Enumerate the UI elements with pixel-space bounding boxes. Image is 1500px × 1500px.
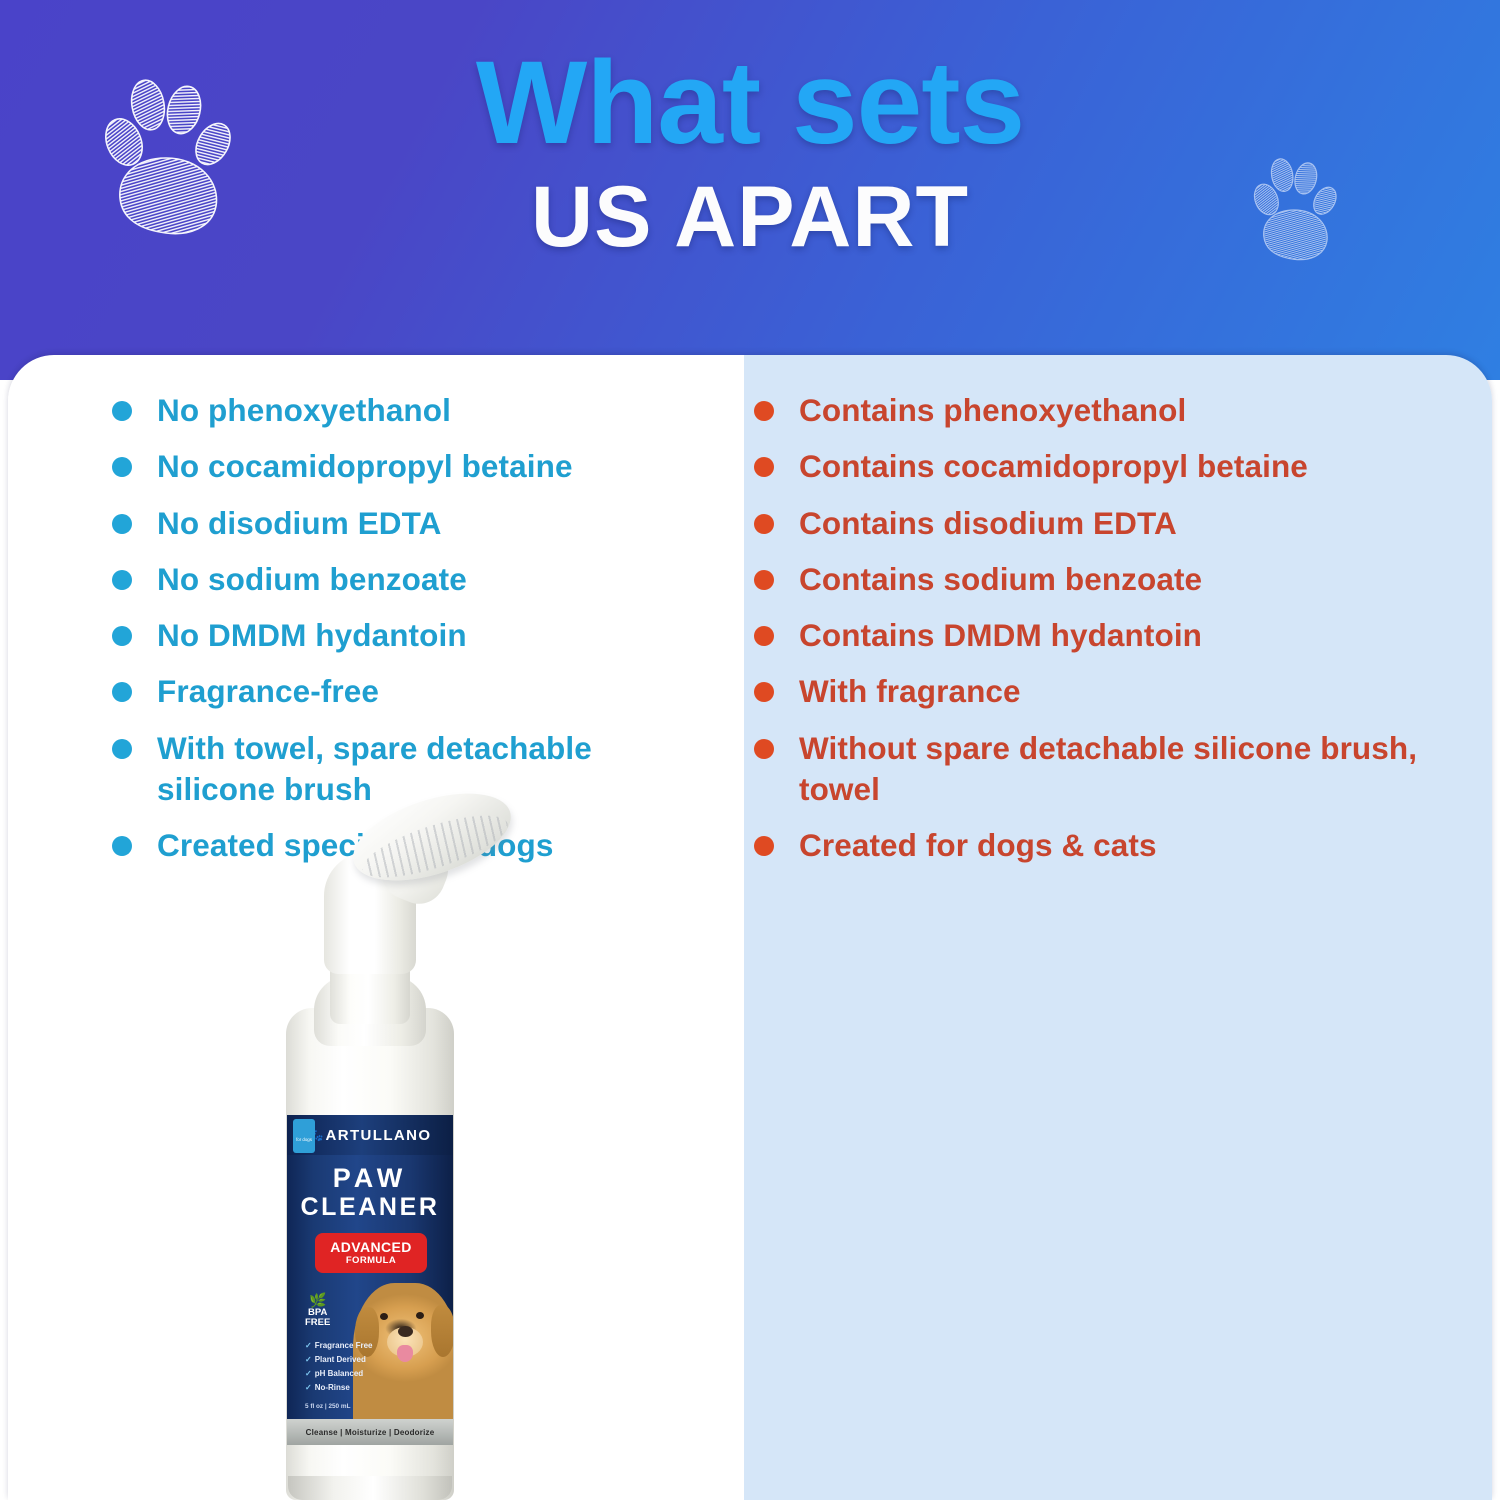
title-line-1: What sets <box>0 44 1500 162</box>
advanced-formula-badge: ADVANCED FORMULA <box>315 1233 427 1273</box>
our-product-bottle: 🐾 ARTULLANO for dogs PAW CLEANER ADVANCE… <box>272 880 462 1500</box>
product-name-paw: PAW <box>333 1163 408 1193</box>
ours-panel: No phenoxyethanol No cocamidopropyl beta… <box>8 355 744 1500</box>
label-footer-text: Cleanse | Moisturize | Deodorize <box>287 1419 453 1445</box>
for-dogs-tag: for dogs <box>293 1119 315 1153</box>
dog-nose <box>398 1326 413 1337</box>
bullet-dot-icon <box>754 739 774 759</box>
theirs-feature-list: Contains phenoxyethanol Contains cocamid… <box>754 390 1434 881</box>
list-item-label: Contains sodium benzoate <box>799 561 1202 597</box>
comparison-card: No phenoxyethanol No cocamidopropyl beta… <box>8 355 1492 1500</box>
list-item: With fragrance <box>754 671 1434 712</box>
list-item: No sodium benzoate <box>112 559 712 600</box>
bullet-dot-icon <box>754 682 774 702</box>
list-item-label: Without spare detachable silicone brush,… <box>799 730 1417 807</box>
list-item: Contains cocamidopropyl betaine <box>754 446 1434 487</box>
bullet-dot-icon <box>754 457 774 477</box>
label-feature-item: No-Rinse <box>305 1381 373 1395</box>
list-item: With towel, spare detachable silicone br… <box>112 728 712 811</box>
bullet-dot-icon <box>112 739 132 759</box>
list-item: No DMDM hydantoin <box>112 615 712 656</box>
label-feature-item: Fragrance Free <box>305 1339 373 1353</box>
bullet-dot-icon <box>112 682 132 702</box>
list-item-label: Contains phenoxyethanol <box>799 392 1186 428</box>
bullet-dot-icon <box>112 836 132 856</box>
list-item-label: Contains disodium EDTA <box>799 505 1177 541</box>
label-feature-list: Fragrance Free Plant Derived pH Balanced… <box>305 1339 373 1395</box>
title-line-2: US APART <box>0 174 1500 260</box>
bullet-dot-icon <box>754 836 774 856</box>
bullet-dot-icon <box>112 626 132 646</box>
bullet-dot-icon <box>754 514 774 534</box>
list-item-label: Contains DMDM hydantoin <box>799 617 1202 653</box>
list-item-label: With towel, spare detachable silicone br… <box>157 730 592 807</box>
list-item-label: Created for dogs & cats <box>799 827 1157 863</box>
product-name-line-2: CLEANER <box>287 1193 453 1222</box>
product-label: 🐾 ARTULLANO for dogs PAW CLEANER ADVANCE… <box>287 1115 453 1445</box>
page-title: What sets US APART <box>0 44 1500 260</box>
list-item-label: Fragrance-free <box>157 673 379 709</box>
dog-ear-right <box>431 1305 453 1357</box>
product-name-line-1: PAW <box>287 1163 453 1194</box>
bottle-base <box>288 1476 452 1500</box>
bullet-dot-icon <box>754 570 774 590</box>
list-item: No cocamidopropyl betaine <box>112 446 712 487</box>
badge-line-2: FORMULA <box>315 1255 427 1266</box>
list-item: Contains phenoxyethanol <box>754 390 1434 431</box>
header-banner: What sets US APART <box>0 0 1500 380</box>
list-item: Contains DMDM hydantoin <box>754 615 1434 656</box>
bpa-free-badge: 🌿 BPA FREE <box>305 1293 330 1328</box>
bullet-dot-icon <box>754 626 774 646</box>
label-feature-item: pH Balanced <box>305 1367 373 1381</box>
comparison-infographic: What sets US APART No phenoxyethanol No … <box>0 0 1500 1500</box>
dog-tongue <box>397 1345 413 1362</box>
list-item: Contains disodium EDTA <box>754 503 1434 544</box>
list-item-label: No sodium benzoate <box>157 561 467 597</box>
list-item: Fragrance-free <box>112 671 712 712</box>
bullet-dot-icon <box>754 401 774 421</box>
label-feature-item: Plant Derived <box>305 1353 373 1367</box>
bullet-dot-icon <box>112 570 132 590</box>
leaf-icon: 🌿 <box>305 1293 330 1308</box>
list-item: No disodium EDTA <box>112 503 712 544</box>
list-item-label: No disodium EDTA <box>157 505 442 541</box>
list-item-label: No DMDM hydantoin <box>157 617 467 653</box>
bullet-dot-icon <box>112 457 132 477</box>
list-item: No phenoxyethanol <box>112 390 712 431</box>
list-item-label: Contains cocamidopropyl betaine <box>799 448 1308 484</box>
list-item: Created for dogs & cats <box>754 825 1434 866</box>
bullet-dot-icon <box>112 514 132 534</box>
list-item-label: No cocamidopropyl betaine <box>157 448 573 484</box>
badge-line-1: ADVANCED <box>315 1239 427 1255</box>
bullet-dot-icon <box>112 401 132 421</box>
theirs-panel: Contains phenoxyethanol Contains cocamid… <box>744 355 1492 1500</box>
list-item-label: With fragrance <box>799 673 1021 709</box>
list-item-label: No phenoxyethanol <box>157 392 451 428</box>
list-item: Without spare detachable silicone brush,… <box>754 728 1434 811</box>
label-volume: 5 fl oz | 250 mL <box>305 1403 350 1410</box>
brand-name: ARTULLANO <box>326 1127 432 1144</box>
dog-eye-right <box>416 1312 424 1319</box>
list-item: Contains sodium benzoate <box>754 559 1434 600</box>
bpa-line-2: FREE <box>305 1317 330 1328</box>
dog-eye-left <box>380 1313 388 1320</box>
